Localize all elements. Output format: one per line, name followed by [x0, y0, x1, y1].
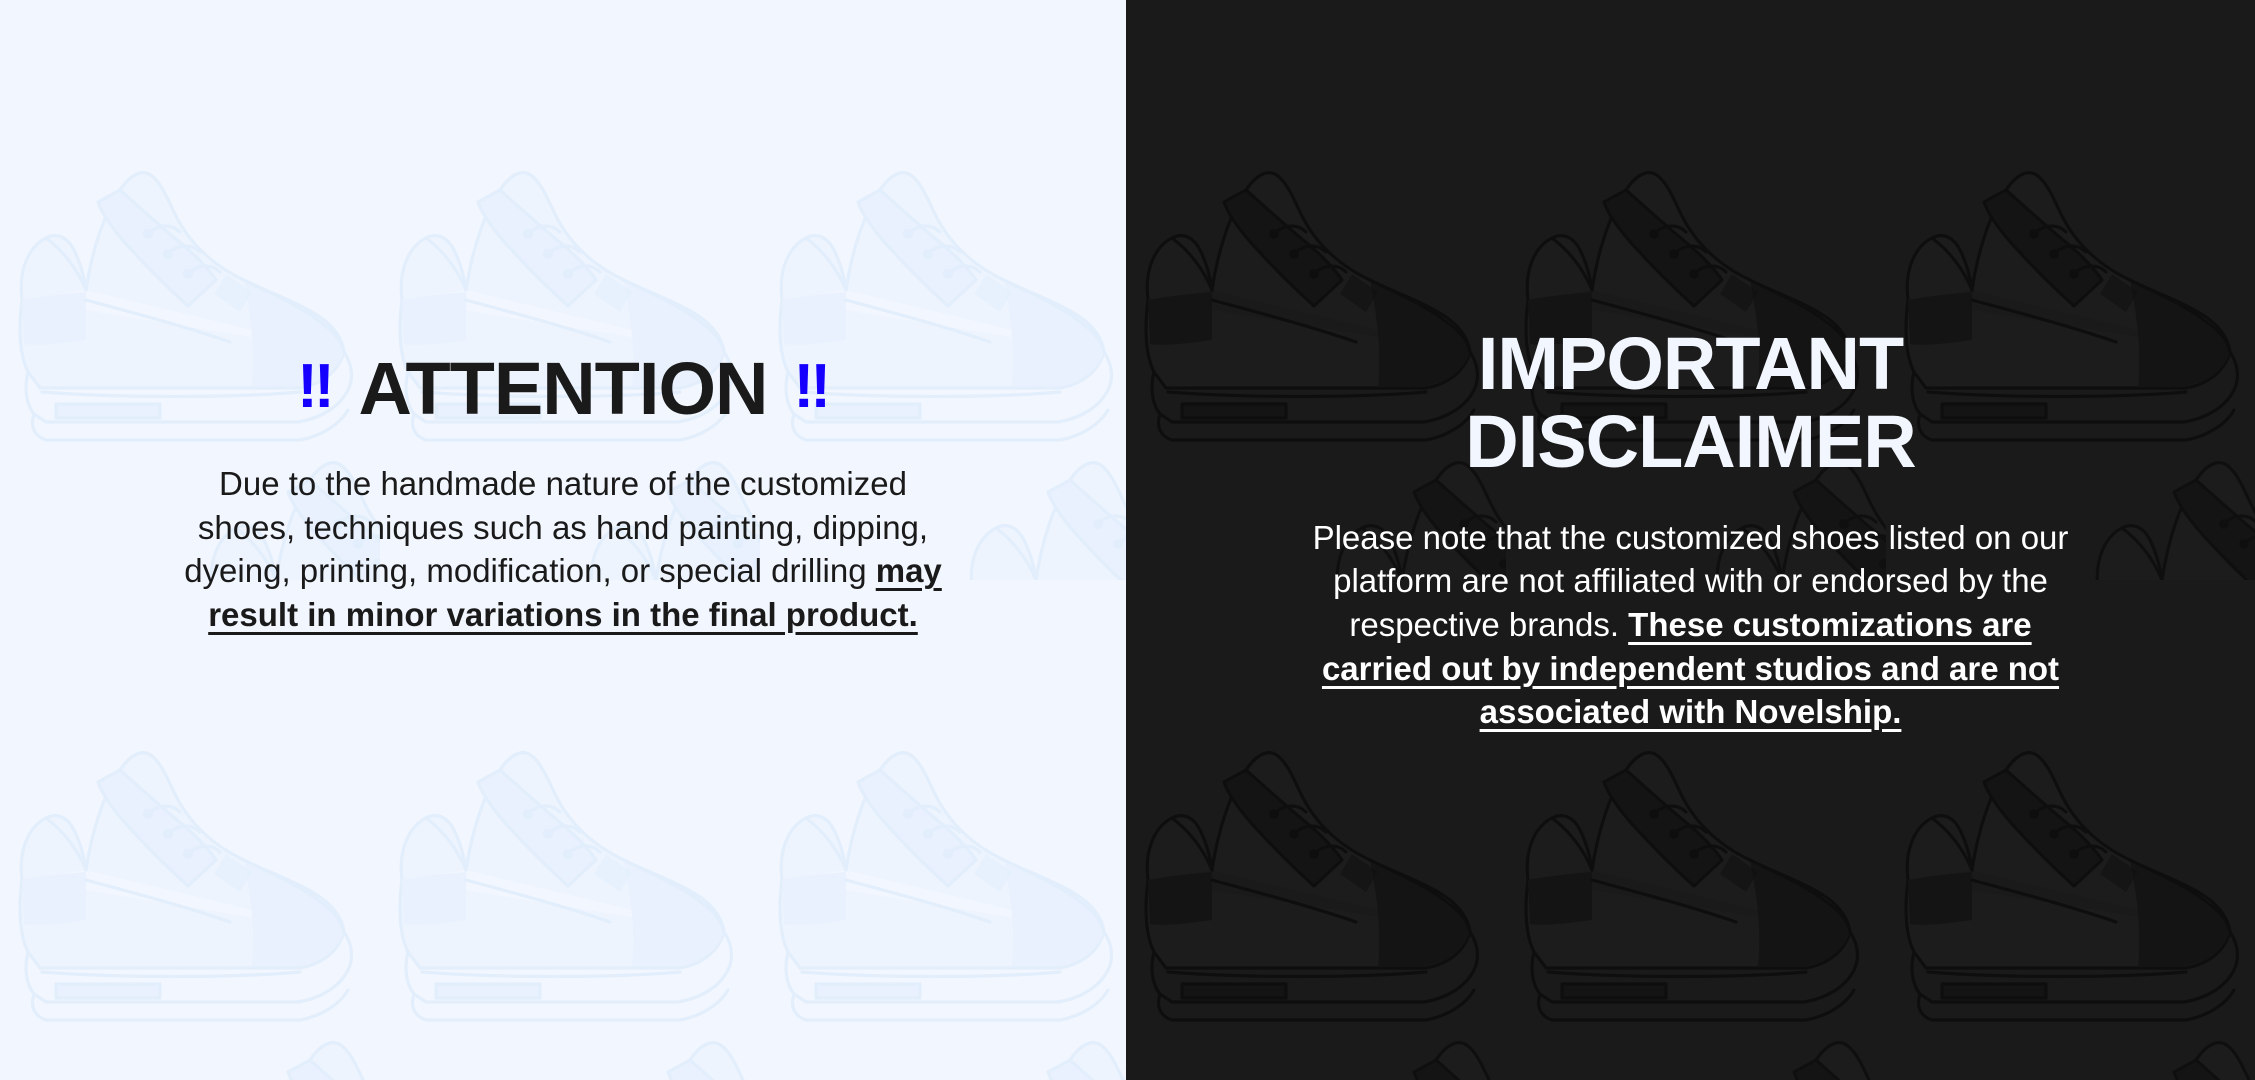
attention-body-normal: Due to the handmade nature of the custom…	[184, 465, 928, 589]
disclaimer-heading-line2: DISCLAIMER	[1465, 400, 1915, 483]
disclaimer-heading: IMPORTANT DISCLAIMER	[1465, 325, 1915, 482]
attention-heading: ‼ ATTENTION ‼	[297, 352, 829, 426]
attention-body-text: Due to the handmade nature of the custom…	[183, 462, 943, 636]
disclaimer-content: IMPORTANT DISCLAIMER Please note that th…	[1126, 0, 2255, 1080]
attention-panel: ‼ ATTENTION ‼ Due to the handmade nature…	[0, 0, 1126, 1080]
attention-heading-word: ATTENTION	[359, 352, 768, 426]
disclaimer-panel: IMPORTANT DISCLAIMER Please note that th…	[1126, 0, 2255, 1080]
disclaimer-banner: ‼ ATTENTION ‼ Due to the handmade nature…	[0, 0, 2255, 1080]
attention-content: ‼ ATTENTION ‼ Due to the handmade nature…	[0, 0, 1126, 1080]
disclaimer-body-text: Please note that the customized shoes li…	[1296, 516, 2086, 734]
double-exclamation-left-icon: ‼	[297, 356, 332, 418]
double-exclamation-right-icon: ‼	[793, 356, 828, 418]
disclaimer-heading-line1: IMPORTANT	[1478, 322, 1903, 405]
